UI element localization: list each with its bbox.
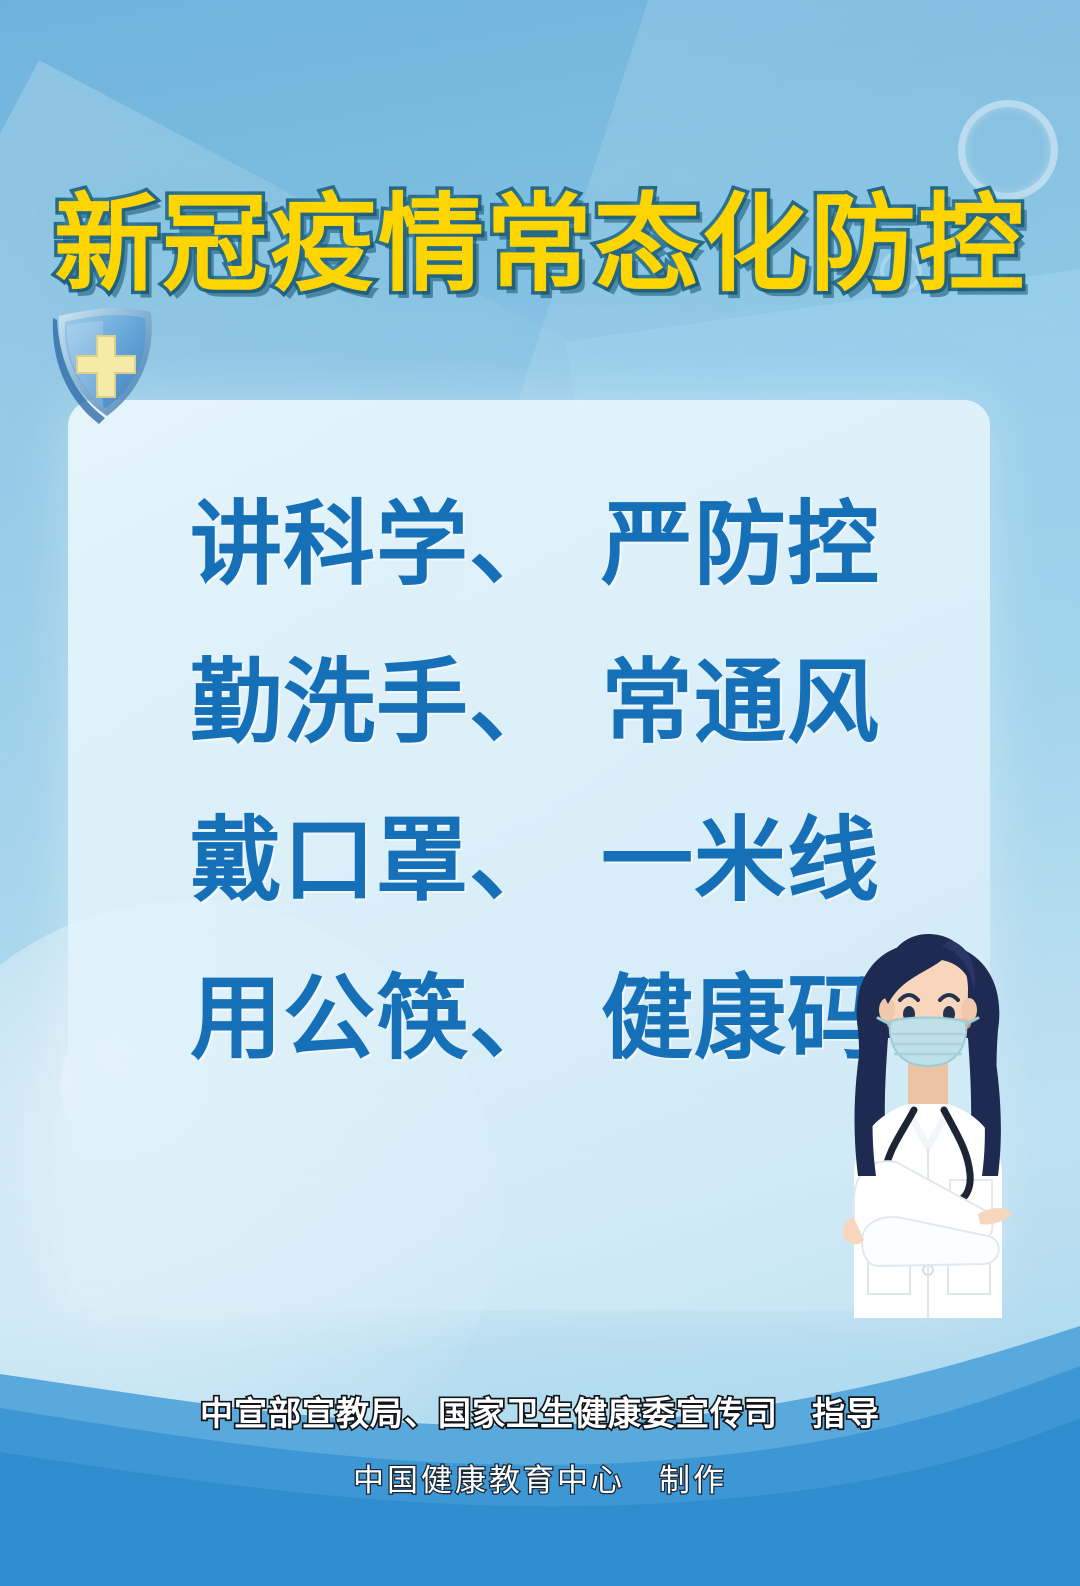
- slogan-line-1-left: 讲科学、: [190, 466, 562, 624]
- slogan-line-3-right: 一米线: [601, 782, 880, 940]
- page-title: 新冠疫情常态化防控: [0, 192, 1080, 298]
- slogan-line-3-left: 戴口罩、: [190, 782, 562, 940]
- footer-guidance-line: 中宣部宣教局、国家卫生健康委宣传司 指导: [0, 1387, 1080, 1435]
- shield-icon: [45, 296, 169, 424]
- slogan-line-2-right: 常通风: [601, 624, 880, 782]
- slogan-line-4: 用公筷、 健康码: [190, 940, 880, 1098]
- footer-producer-line: 中国健康教育中心 制作: [0, 1455, 1080, 1500]
- slogan-line-4-left: 用公筷、: [190, 940, 562, 1098]
- poster-root: 新冠疫情常态化防控 讲科学、 严防控 勤洗手、 常通风: [0, 0, 1080, 1586]
- slogan-block: 讲科学、 严防控 勤洗手、 常通风 戴口罩、 一米线 用公筷、 健康码: [190, 466, 880, 1098]
- doctor-illustration: [792, 918, 1064, 1318]
- slogan-line-3: 戴口罩、 一米线: [190, 782, 880, 940]
- slogan-line-1: 讲科学、 严防控: [190, 466, 880, 624]
- slogan-line-2-left: 勤洗手、: [190, 624, 562, 782]
- slogan-line-1-right: 严防控: [601, 466, 880, 624]
- footer: 中宣部宣教局、国家卫生健康委宣传司 指导 中国健康教育中心 制作: [0, 1387, 1080, 1500]
- face-mask-icon: [890, 1018, 966, 1067]
- slogan-line-2: 勤洗手、 常通风: [190, 624, 880, 782]
